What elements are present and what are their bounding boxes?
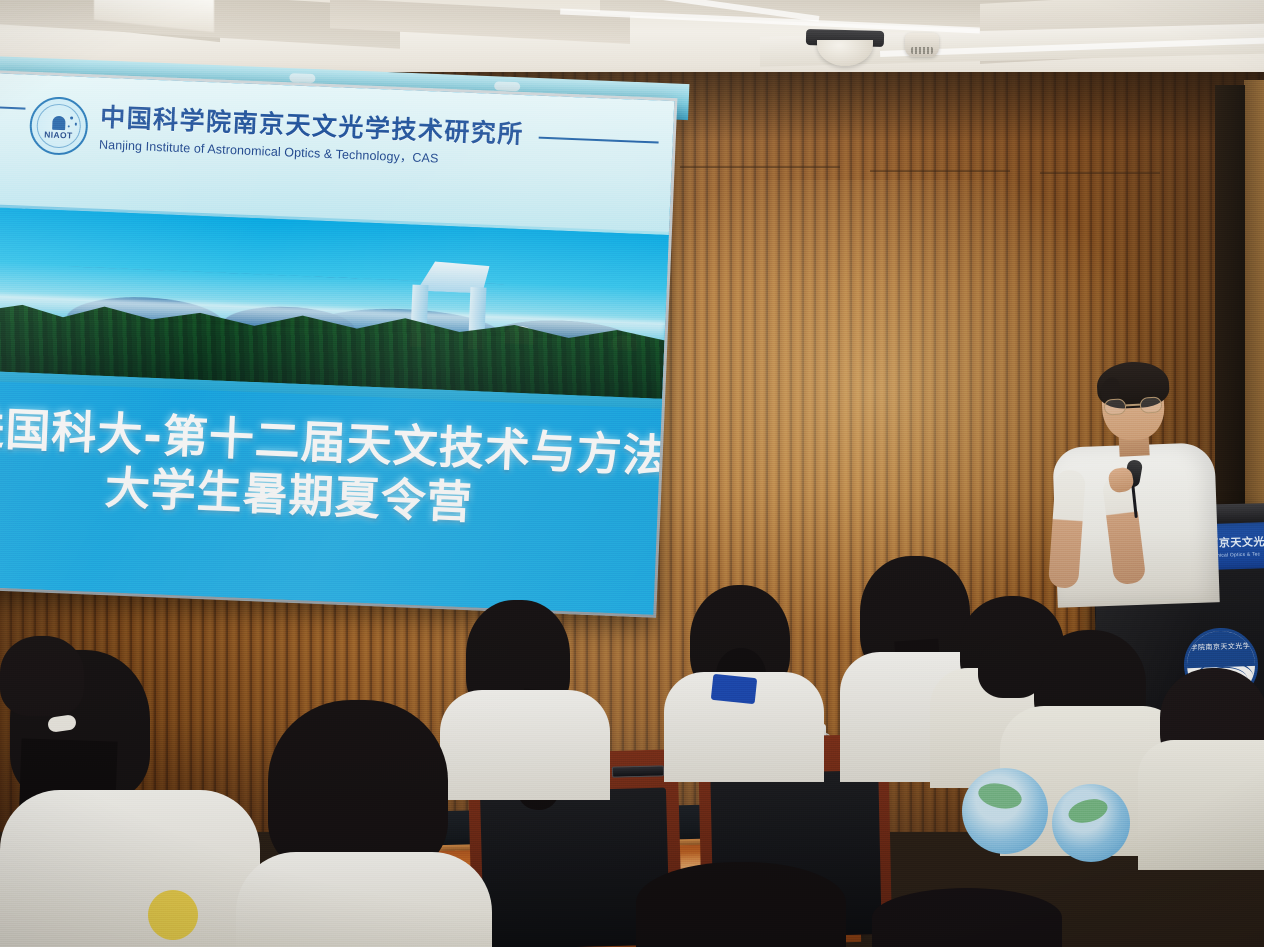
star-icon <box>70 117 73 120</box>
slide-title-line2: 大学生暑期夏令营 <box>104 464 474 526</box>
sun-graphic-icon <box>148 890 198 940</box>
eyeglasses-icon <box>1104 396 1163 415</box>
projection-screen: NIAOT 中国科学院南京天文光学技术研究所 Nanjing Institute… <box>0 73 674 615</box>
person-lanyard <box>711 674 757 704</box>
slide-photo-band <box>0 207 669 410</box>
niaot-wordmark: NIAOT <box>31 129 85 141</box>
slide-header-rule-left <box>0 106 25 110</box>
trim-fixture <box>494 81 520 91</box>
slide-title-area: 走进国科大-第十二届天文技术与方法 大学生暑期夏令营 <box>0 381 662 614</box>
person-shirt <box>236 852 492 947</box>
person-shirt <box>0 790 260 947</box>
person-hair <box>0 636 84 716</box>
glasses-lens <box>1104 398 1127 415</box>
earth-graphic-icon <box>1052 784 1130 862</box>
person-hair <box>872 888 1062 947</box>
smoke-detector-icon <box>905 33 939 57</box>
glasses-bridge <box>1126 404 1140 406</box>
slide-header-rule-right <box>539 137 659 144</box>
projection-screen-bezel: NIAOT 中国科学院南京天文光学技术研究所 Nanjing Institute… <box>0 70 677 618</box>
glasses-lens <box>1140 396 1163 413</box>
wall-panel-seam <box>1040 172 1160 174</box>
earth-graphic-icon <box>962 768 1048 854</box>
telescope-dome-icon <box>52 115 66 130</box>
wall-edge-panel <box>1244 80 1264 550</box>
podium-emblem-cn: 学院南京天文光学 <box>1186 641 1254 653</box>
slide-title-line1: 走进国科大-第十二届天文技术与方法 <box>0 403 670 481</box>
institute-logo-row: NIAOT 中国科学院南京天文光学技术研究所 Nanjing Institute… <box>29 96 525 174</box>
star-icon <box>74 123 77 126</box>
person-hair <box>636 862 846 947</box>
wall-panel-seam <box>870 170 1010 172</box>
person-hair <box>268 700 448 875</box>
person-hair <box>978 636 1044 698</box>
person-shirt <box>1138 740 1264 870</box>
doorway-gap <box>1215 85 1245 545</box>
star-icon <box>68 126 70 128</box>
photo-scene: NIAOT 中国科学院南京天文光学技术研究所 Nanjing Institute… <box>0 0 1264 947</box>
wall-panel-seam <box>680 166 840 168</box>
chair-number-plate <box>612 765 664 777</box>
niaot-logo-icon: NIAOT <box>29 96 89 156</box>
person-shirt <box>440 690 610 800</box>
